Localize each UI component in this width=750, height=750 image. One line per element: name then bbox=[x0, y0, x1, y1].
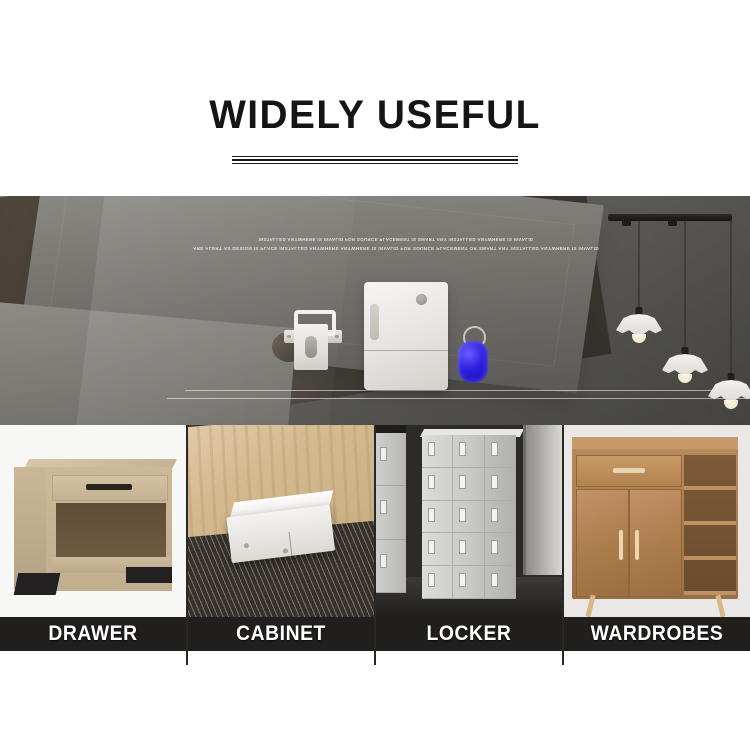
lamp-ceiling-bar bbox=[608, 214, 732, 221]
wardrobe-door-left bbox=[576, 489, 629, 597]
thumbnail-label-locker: LOCKER bbox=[383, 619, 554, 649]
thumbnail-label-cabinet: CABINET bbox=[195, 619, 366, 649]
page-title: WIDELY USEFUL bbox=[11, 92, 739, 138]
locker-cell bbox=[485, 501, 516, 534]
locker-cell bbox=[422, 468, 453, 501]
drawer-scene-foot bbox=[0, 651, 186, 665]
lamp-cap bbox=[682, 347, 689, 355]
locker-cell bbox=[453, 501, 484, 534]
latch-screw-hole-right bbox=[335, 335, 339, 338]
hero-microcopy: ARE ALERT AS DESIGN IS PLACE INSTALLED A… bbox=[186, 235, 606, 253]
wardrobe-door-handle-left bbox=[619, 530, 623, 560]
lamp-bulb bbox=[724, 400, 738, 409]
locker-cell bbox=[485, 435, 516, 468]
locker-cell bbox=[453, 468, 484, 501]
thumbnail-cabinet[interactable]: CABINET bbox=[188, 425, 374, 665]
drawer-scene bbox=[0, 425, 186, 621]
divider-rule-middle bbox=[232, 159, 518, 161]
lock-indicator-led bbox=[416, 294, 427, 305]
locker-cell bbox=[422, 533, 453, 566]
locker-scene bbox=[376, 425, 562, 621]
rfid-key-fob-icon bbox=[458, 326, 488, 384]
lamp-bulb bbox=[678, 374, 692, 383]
nightstand-open-shelf-cavity bbox=[56, 503, 166, 559]
wardrobe-illustration bbox=[572, 437, 738, 613]
application-thumbnail-row: DRAWER CABINET bbox=[0, 425, 750, 665]
cabinet-mounted-lock bbox=[225, 491, 336, 565]
rfid-lock-body-icon bbox=[364, 282, 448, 390]
hero-microcopy-line-1: ARE ALERT AS DESIGN IS PLACE INSTALLED A… bbox=[186, 244, 606, 253]
wardrobe-shelf bbox=[684, 525, 736, 560]
locker-room-door bbox=[523, 425, 562, 575]
latch-screw-hole-left bbox=[287, 335, 291, 338]
locker-main-unit bbox=[422, 435, 516, 599]
lamp-cord bbox=[685, 221, 686, 347]
locker-cell bbox=[485, 566, 516, 599]
wardrobe-scene-foot bbox=[564, 651, 750, 665]
cabinet-scene-foot bbox=[188, 651, 374, 665]
cabinet-scene bbox=[188, 425, 374, 621]
nightstand-side-panel bbox=[14, 467, 48, 589]
wardrobe-drawer-pull bbox=[613, 468, 645, 473]
wardrobe-shelf bbox=[684, 560, 736, 595]
nightstand-illustration bbox=[14, 457, 172, 597]
locker-cell bbox=[485, 468, 516, 501]
lock-seam bbox=[364, 350, 448, 351]
key-fob-tag bbox=[458, 341, 488, 383]
title-section: WIDELY USEFUL bbox=[0, 0, 750, 163]
content-block: ARE ALERT AS DESIGN IS PLACE INSTALLED A… bbox=[0, 196, 750, 665]
nightstand-base-left bbox=[14, 573, 61, 595]
thumbnail-label-drawer: DRAWER bbox=[7, 619, 178, 649]
locker-cell bbox=[453, 533, 484, 566]
wardrobe-drawer bbox=[576, 455, 682, 487]
hero-image: ARE ALERT AS DESIGN IS PLACE INSTALLED A… bbox=[0, 196, 750, 425]
lamp-cord bbox=[731, 221, 732, 373]
wardrobe-scene bbox=[564, 425, 750, 621]
nightstand-base-right bbox=[126, 567, 172, 583]
locker-cell bbox=[376, 540, 406, 593]
lamp-bulb bbox=[632, 334, 646, 343]
locker-cell bbox=[376, 433, 406, 486]
thumbnail-label-wardrobes: WARDROBES bbox=[571, 619, 742, 649]
latch-slot bbox=[305, 336, 317, 358]
wardrobe-door-right bbox=[629, 489, 682, 597]
cabinet-latch-lock-icon bbox=[272, 310, 348, 372]
divider-rule-bottom bbox=[232, 163, 518, 164]
thumbnail-wardrobes[interactable]: WARDROBES bbox=[564, 425, 750, 665]
locker-cell bbox=[453, 435, 484, 468]
lock-side-strip bbox=[370, 304, 379, 340]
nightstand-drawer-handle bbox=[86, 484, 132, 490]
locker-cell bbox=[422, 435, 453, 468]
locker-cell bbox=[453, 566, 484, 599]
thumbnail-locker[interactable]: LOCKER bbox=[376, 425, 562, 665]
wardrobe-shelf bbox=[684, 455, 736, 490]
wardrobe-top bbox=[572, 437, 738, 449]
lamp-cord bbox=[639, 221, 640, 307]
locker-cell bbox=[485, 533, 516, 566]
divider-rule-top bbox=[232, 156, 518, 157]
lamp-cap bbox=[636, 307, 643, 315]
title-divider bbox=[232, 156, 518, 163]
pendant-lamp-group bbox=[600, 214, 750, 414]
wardrobe-open-shelves bbox=[684, 455, 736, 595]
locker-column-unit bbox=[376, 433, 406, 593]
locker-cell bbox=[376, 486, 406, 539]
lamp-cap bbox=[728, 373, 735, 381]
thumbnail-drawer[interactable]: DRAWER bbox=[0, 425, 186, 665]
locker-cell bbox=[422, 566, 453, 599]
wardrobe-shelf bbox=[684, 490, 736, 525]
locker-cell bbox=[422, 501, 453, 534]
hero-microcopy-line-2: INSTALLED ANYWHERE IS INVALID FOR SOURCE… bbox=[186, 235, 606, 244]
wardrobe-door-handle-right bbox=[635, 530, 639, 560]
product-group bbox=[272, 282, 487, 392]
locker-scene-foot bbox=[376, 651, 562, 665]
